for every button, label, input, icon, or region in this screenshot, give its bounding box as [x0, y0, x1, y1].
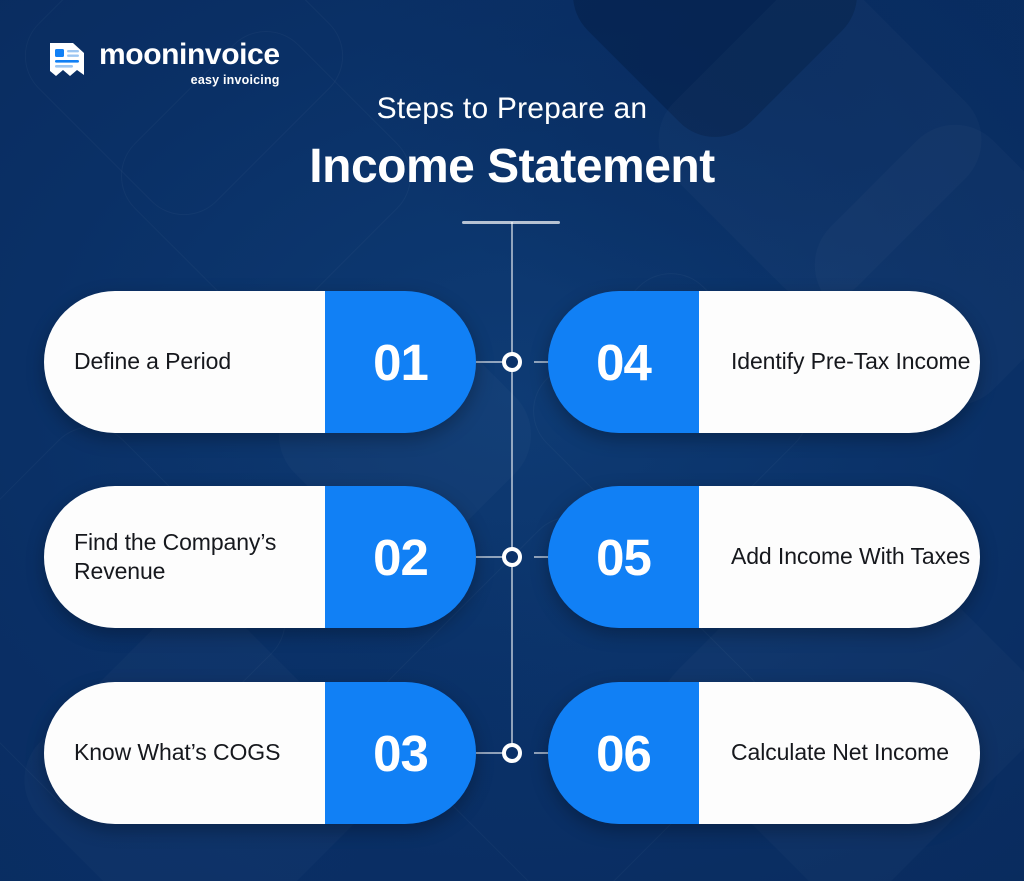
- step-label: Identify Pre-Tax Income: [731, 347, 970, 376]
- invoice-document-icon: [46, 41, 88, 85]
- step-card-02[interactable]: Find the Company’s Revenue 02: [44, 486, 476, 628]
- step-card-02-number: 02: [325, 486, 476, 628]
- step-card-05-text: Add Income With Taxes: [699, 486, 980, 628]
- step-number: 06: [596, 724, 651, 783]
- step-card-02-text: Find the Company’s Revenue: [44, 486, 325, 628]
- connector-node-3: [502, 743, 522, 763]
- connector-vertical-line: [511, 222, 513, 756]
- step-number: 01: [373, 333, 428, 392]
- step-label: Calculate Net Income: [731, 738, 949, 767]
- connector-node-1: [502, 352, 522, 372]
- step-card-05[interactable]: 05 Add Income With Taxes: [548, 486, 980, 628]
- step-label: Find the Company’s Revenue: [74, 528, 325, 587]
- step-card-06-text: Calculate Net Income: [699, 682, 980, 824]
- step-label: Define a Period: [74, 347, 231, 376]
- step-card-04-text: Identify Pre-Tax Income: [699, 291, 980, 433]
- step-card-06[interactable]: 06 Calculate Net Income: [548, 682, 980, 824]
- step-card-04[interactable]: 04 Identify Pre-Tax Income: [548, 291, 980, 433]
- step-label: Know What’s COGS: [74, 738, 280, 767]
- brand-logo[interactable]: mooninvoice easy invoicing: [46, 40, 280, 87]
- title-heading: Income Statement: [0, 141, 1024, 194]
- step-card-04-number: 04: [548, 291, 699, 433]
- step-number: 05: [596, 528, 651, 587]
- step-card-01-text: Define a Period: [44, 291, 325, 433]
- connector-arm-left-1: [476, 361, 510, 363]
- connector-arm-left-2: [476, 556, 510, 558]
- brand-tagline: easy invoicing: [191, 74, 280, 87]
- infographic-canvas: mooninvoice easy invoicing Steps to Prep…: [0, 0, 1024, 881]
- brand-text: mooninvoice easy invoicing: [99, 40, 280, 87]
- step-card-01[interactable]: Define a Period 01: [44, 291, 476, 433]
- title-subtitle: Steps to Prepare an: [0, 92, 1024, 127]
- step-card-06-number: 06: [548, 682, 699, 824]
- brand-name: mooninvoice: [99, 40, 280, 70]
- step-card-03[interactable]: Know What’s COGS 03: [44, 682, 476, 824]
- connector-arm-left-3: [476, 752, 510, 754]
- connector-top-bar: [462, 221, 560, 224]
- step-number: 02: [373, 528, 428, 587]
- step-card-05-number: 05: [548, 486, 699, 628]
- connector-node-2: [502, 547, 522, 567]
- step-card-03-number: 03: [325, 682, 476, 824]
- step-label: Add Income With Taxes: [731, 542, 970, 571]
- step-number: 03: [373, 724, 428, 783]
- step-card-01-number: 01: [325, 291, 476, 433]
- step-card-03-text: Know What’s COGS: [44, 682, 325, 824]
- step-number: 04: [596, 333, 651, 392]
- page-title: Steps to Prepare an Income Statement: [0, 92, 1024, 193]
